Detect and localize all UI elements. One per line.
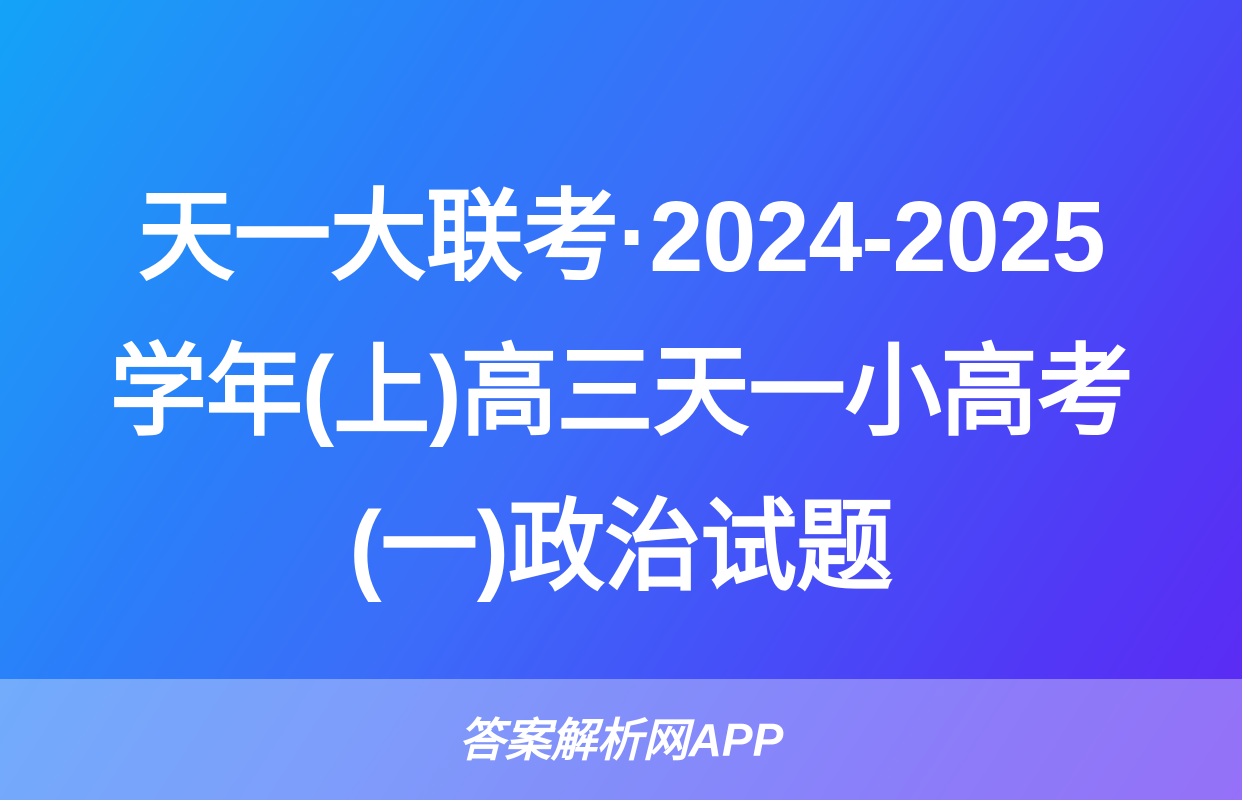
- page-title: 天一大联考·2024-2025 学年(上)高三天一小高考 (一)政治试题: [0, 160, 1242, 625]
- app-watermark-label: 答案解析网APP: [459, 717, 784, 763]
- title-line-2: 学年(上)高三天一小高考: [110, 315, 1133, 470]
- title-line-1: 天一大联考·2024-2025: [138, 160, 1105, 315]
- footer-watermark-band: 答案解析网APP: [0, 679, 1242, 800]
- exam-cover-card: 天一大联考·2024-2025 学年(上)高三天一小高考 (一)政治试题 答案解…: [0, 0, 1242, 800]
- title-line-3: (一)政治试题: [350, 470, 893, 625]
